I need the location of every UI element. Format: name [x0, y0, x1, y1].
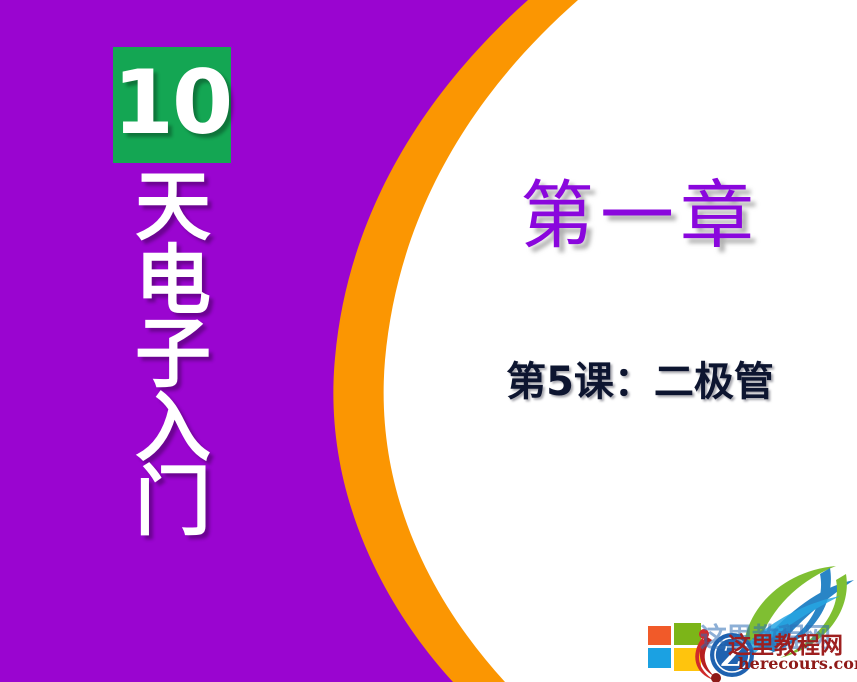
chapter-heading: 第一章 [480, 178, 800, 256]
watermark-site-url: herecours.com [738, 654, 857, 673]
presentation-slide: 10 天 电 子 入 门 第一章 第5课：二极管 [0, 0, 857, 682]
windows-logo-icon [648, 623, 701, 671]
site-watermark: Z 这里教程网 这里教程网 herecours.com [640, 558, 857, 682]
lesson-subtitle: 第5课：二极管 [470, 360, 810, 404]
